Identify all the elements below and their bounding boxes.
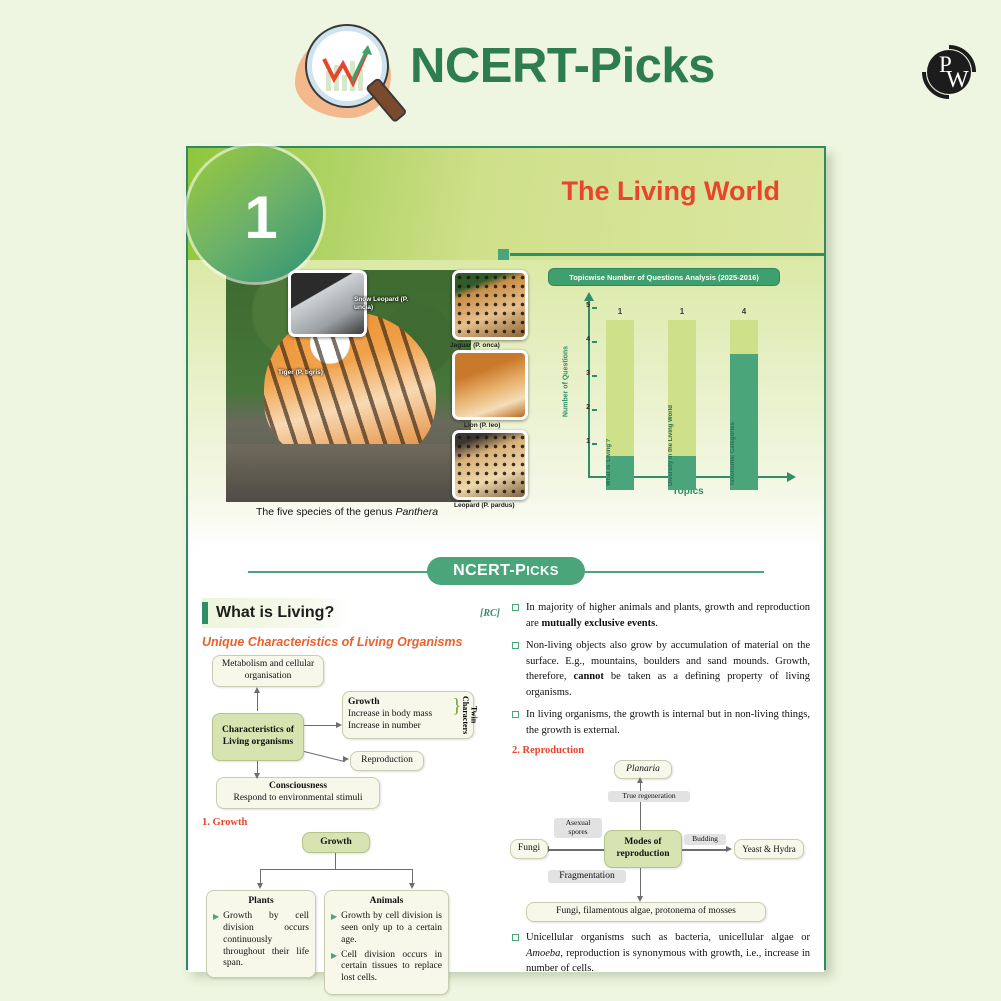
node-twin-characters: Twin Characters bbox=[460, 693, 478, 737]
node-planaria: Planaria bbox=[614, 760, 672, 779]
chart-bar-value-1: 1 bbox=[668, 307, 696, 316]
box-plants: Plants ▶ Growth by cell division occurs … bbox=[206, 890, 316, 978]
chart-bar-value-0: 1 bbox=[606, 307, 634, 316]
arrowhead-planaria bbox=[637, 777, 643, 783]
hero-section: Snow Leopard (P. uncia) Tiger (P. tigris… bbox=[188, 260, 824, 550]
bullet-text: In living organisms, the growth is inter… bbox=[526, 707, 810, 738]
header-rule-square bbox=[498, 249, 509, 260]
node-consciousness: Consciousness Respond to environmental s… bbox=[216, 777, 380, 809]
leopard-spots bbox=[455, 433, 525, 497]
chart-y-tick-1: 1 bbox=[580, 438, 590, 445]
left-column: What is Living? [RC] Unique Characterist… bbox=[202, 598, 500, 972]
node-growth-title: Growth bbox=[348, 697, 380, 709]
chart-bar-value-2: 4 bbox=[730, 307, 758, 316]
label-true-regeneration: True regeneration bbox=[608, 791, 690, 802]
rc-tag: [RC] bbox=[480, 608, 500, 619]
chapter-number-text: 1 bbox=[244, 183, 277, 252]
bullet-list-growth: In majority of higher animals and plants… bbox=[512, 600, 810, 738]
label-asexual-spores: Asexual spores bbox=[554, 818, 602, 837]
chart-bar-2: 4Taxonomic Categories bbox=[730, 320, 758, 490]
box-animals-bullet-2: Cell division occurs in certain tissues … bbox=[341, 950, 442, 986]
arrowhead-reproduction bbox=[343, 756, 349, 762]
arrow-center-to-growth bbox=[304, 725, 338, 726]
chart-bar-category-2: Taxonomic Categories bbox=[730, 336, 758, 486]
chart-y-tick-3: 3 bbox=[580, 370, 590, 377]
plants-bullet-icon: ▶ bbox=[213, 911, 219, 970]
heading-text: What is Living? bbox=[216, 604, 334, 622]
chapter-header-band: 1 The Living World bbox=[188, 148, 824, 260]
unique-characteristics-subheading: Unique Characteristics of Living Organis… bbox=[202, 635, 500, 649]
label-lion: Lion (P. leo) bbox=[464, 422, 534, 430]
box-animals-title: Animals bbox=[331, 896, 442, 908]
chart-y-tick-4: 4 bbox=[580, 336, 590, 343]
node-growth-root: Growth bbox=[302, 832, 370, 853]
heading-accent-bar bbox=[202, 602, 208, 624]
section-2-reproduction-label: 2. Reproduction bbox=[512, 745, 810, 756]
page-sheet: 1 The Living World Snow Leopard (P. unci… bbox=[186, 146, 826, 970]
what-is-living-heading: What is Living? bbox=[202, 598, 350, 628]
arrowhead-plants bbox=[257, 883, 263, 889]
bullet-item: Unicellular organisms such as bacteria, … bbox=[512, 930, 810, 977]
label-snow-leopard: Snow Leopard (P. uncia) bbox=[354, 296, 424, 312]
chart-title: Topicwise Number of Questions Analysis (… bbox=[548, 268, 780, 286]
bullet-text: Non-living objects also grow by accumula… bbox=[526, 638, 810, 700]
content-columns: What is Living? [RC] Unique Characterist… bbox=[188, 592, 824, 972]
bullet-item: In majority of higher animals and plants… bbox=[512, 600, 810, 631]
node-reproduction: Reproduction bbox=[350, 751, 424, 771]
node-fungi: Fungi bbox=[510, 839, 548, 859]
collage-caption: The five species of the genus Panthera bbox=[232, 506, 462, 518]
bullet-text: Unicellular organisms such as bacteria, … bbox=[526, 930, 810, 977]
label-jaguar: Jaguar (P. onca) bbox=[450, 342, 534, 350]
bullet-square-icon bbox=[512, 711, 519, 718]
pw-logo-icon: P W bbox=[917, 40, 981, 104]
chart-y-axis-label: Number of Questions bbox=[563, 322, 570, 442]
node-characteristics: Characteristics of Living organisms bbox=[212, 713, 304, 761]
arrow-center-to-metabolism bbox=[257, 691, 258, 711]
label-leopard: Leopard (P. pardus) bbox=[454, 502, 534, 510]
bullet-square-icon bbox=[512, 642, 519, 649]
bullet-item: Non-living objects also grow by accumula… bbox=[512, 638, 810, 700]
brand-title: NCERT-Picks bbox=[410, 38, 715, 94]
arrowhead-animals bbox=[409, 883, 415, 889]
divider-label-small: ICKS bbox=[526, 563, 559, 578]
chapter-number-badge: 1 bbox=[187, 146, 323, 282]
chart-bar-0: 1What is 'Living'? bbox=[606, 320, 634, 490]
right-column: In majority of higher animals and plants… bbox=[512, 598, 810, 972]
collage-caption-genus: Panthera bbox=[395, 506, 438, 518]
bullet-list-reproduction: Unicellular organisms such as bacteria, … bbox=[512, 930, 810, 977]
chapter-title: The Living World bbox=[562, 176, 781, 207]
box-animals: Animals ▶ Growth by cell division is see… bbox=[324, 890, 449, 995]
node-growth-line1: Increase in body mass bbox=[348, 709, 432, 721]
divider-label-main: NCERT-P bbox=[453, 562, 526, 579]
collage-caption-prefix: The five species of the genus bbox=[256, 506, 396, 518]
jaguar-spots bbox=[455, 273, 525, 337]
animals-bullet-icon-1: ▶ bbox=[331, 911, 337, 947]
brand-header: NCERT-Picks P W bbox=[0, 0, 1001, 140]
node-consciousness-sub: Respond to environmental stimuli bbox=[233, 793, 362, 805]
arrow-center-to-fragmentation bbox=[640, 868, 641, 898]
label-tiger: Tiger (P. tigris) bbox=[278, 369, 350, 377]
chart-bar-category-0: What is 'Living'? bbox=[606, 336, 634, 486]
svg-text:W: W bbox=[946, 67, 969, 93]
reproduction-diagram: Planaria True regeneration Modes of repr… bbox=[512, 760, 810, 922]
questions-analysis-chart: Topicwise Number of Questions Analysis (… bbox=[548, 268, 800, 516]
ncert-picks-divider: NCERT-PICKS bbox=[188, 550, 824, 592]
label-fragmentation: Fragmentation bbox=[548, 870, 626, 883]
node-modes-of-reproduction: Modes of reproduction bbox=[604, 830, 682, 868]
bullet-item: In living organisms, the growth is inter… bbox=[512, 707, 810, 738]
arrow-center-to-reproduction bbox=[304, 751, 345, 763]
arrowhead-growth bbox=[336, 722, 342, 728]
node-fragmentation-result: Fungi, filamentous algae, protonema of m… bbox=[526, 902, 766, 922]
header-rule-line bbox=[510, 253, 824, 256]
characteristics-diagram: Metabolism and cellular organisation Cha… bbox=[202, 655, 500, 815]
arrow-center-to-planaria bbox=[640, 779, 641, 832]
box-animals-bullet-1: Growth by cell division is seen only up … bbox=[341, 911, 442, 947]
left-heading-row: What is Living? [RC] bbox=[202, 598, 500, 628]
box-plants-title: Plants bbox=[213, 896, 309, 908]
growth-diagram: Growth Plants ▶ Growth by cell division … bbox=[202, 832, 500, 997]
box-plants-bullet-1: Growth by cell division occurs continuou… bbox=[223, 911, 309, 970]
chart-y-tick-5: 5 bbox=[580, 302, 590, 309]
arrowhead-consciousness bbox=[254, 773, 260, 779]
bullet-square-icon bbox=[512, 934, 519, 941]
bullet-square-icon bbox=[512, 604, 519, 611]
leopard-photo bbox=[452, 430, 528, 500]
chart-plot-area: Number of Questions Topics 12345 1What i… bbox=[562, 300, 794, 492]
bullet-text: In majority of higher animals and plants… bbox=[526, 600, 810, 631]
arrowhead-yeast bbox=[726, 846, 732, 852]
label-budding: Budding bbox=[684, 834, 726, 845]
section-1-growth-label: 1. Growth bbox=[202, 817, 500, 828]
node-yeast-hydra: Yeast & Hydra bbox=[734, 839, 804, 859]
animals-bullet-icon-2: ▶ bbox=[331, 950, 337, 986]
arrow-center-to-fungi bbox=[548, 849, 604, 850]
chart-bar-category-1: Diversity in the Living World bbox=[668, 336, 696, 486]
chart-y-axis bbox=[588, 300, 590, 478]
divider-pill: NCERT-PICKS bbox=[427, 557, 585, 585]
growth-crossbar bbox=[260, 869, 412, 870]
node-growth-line2: Increase in number bbox=[348, 721, 421, 733]
node-consciousness-title: Consciousness bbox=[269, 781, 327, 793]
arrowhead-metabolism bbox=[254, 687, 260, 693]
chart-bar-1: 1Diversity in the Living World bbox=[668, 320, 696, 490]
growth-stem bbox=[335, 853, 336, 869]
chart-y-tick-2: 2 bbox=[580, 404, 590, 411]
rock-ledge bbox=[226, 444, 471, 502]
jaguar-photo bbox=[452, 270, 528, 340]
lion-photo bbox=[452, 350, 528, 420]
magnifier-chart-icon bbox=[293, 20, 408, 130]
arrow-center-to-yeast bbox=[682, 849, 728, 850]
node-metabolism: Metabolism and cellular organisation bbox=[212, 655, 324, 687]
panthera-collage: Snow Leopard (P. uncia) Tiger (P. tigris… bbox=[226, 270, 531, 518]
